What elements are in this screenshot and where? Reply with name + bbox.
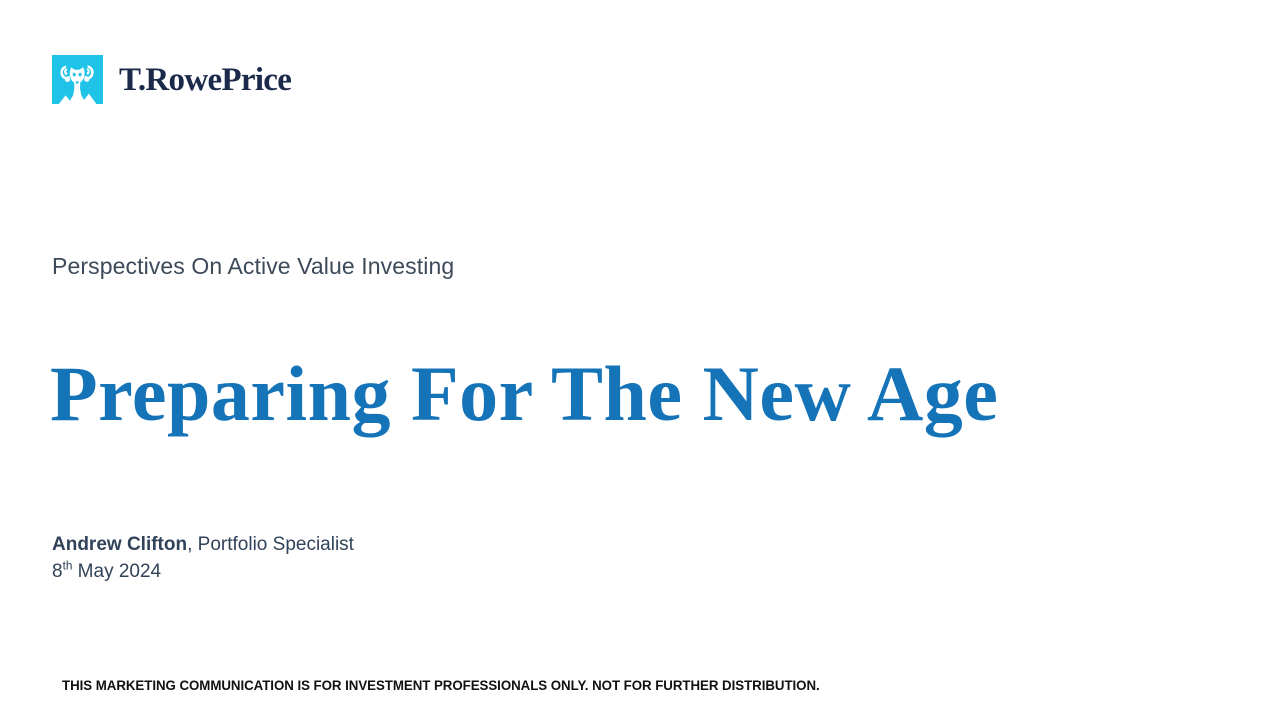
slide-headline: Preparing For The New Age xyxy=(50,355,998,433)
slide-eyebrow: Perspectives On Active Value Investing xyxy=(52,253,454,280)
date-day: 8 xyxy=(52,561,63,582)
brand-logo-lockup: T.RowePrice xyxy=(52,55,291,104)
presenter-line: Andrew Clifton, Portfolio Specialist xyxy=(52,531,354,558)
presenter-role: , Portfolio Specialist xyxy=(187,534,354,555)
presentation-date: 8th May 2024 xyxy=(52,558,354,585)
brand-wordmark: T.RowePrice xyxy=(119,64,291,97)
date-ordinal-suffix: th xyxy=(63,560,73,573)
ram-mountain-logo-icon xyxy=(52,55,103,104)
presenter-name: Andrew Clifton xyxy=(52,534,187,555)
title-slide: T.RowePrice Perspectives On Active Value… xyxy=(0,0,1280,717)
presenter-byline: Andrew Clifton, Portfolio Specialist 8th… xyxy=(52,531,354,585)
footer-disclaimer: THIS MARKETING COMMUNICATION IS FOR INVE… xyxy=(62,678,820,693)
date-month-year: May 2024 xyxy=(72,561,161,582)
